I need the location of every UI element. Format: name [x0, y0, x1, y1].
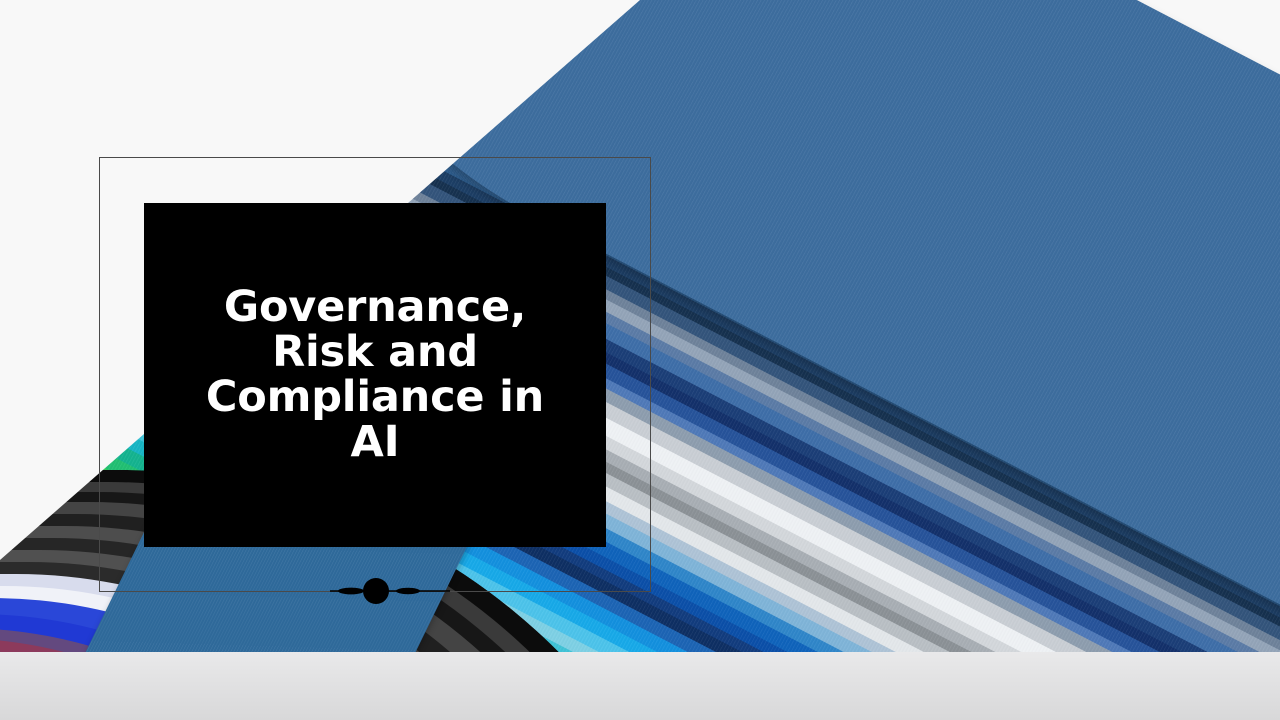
table-surface [0, 652, 1280, 720]
page-title: Governance, Risk and Compliance in AI [192, 285, 558, 465]
slide-canvas: Governance, Risk and Compliance in AI [0, 0, 1280, 720]
title-card: Governance, Risk and Compliance in AI [144, 203, 606, 547]
